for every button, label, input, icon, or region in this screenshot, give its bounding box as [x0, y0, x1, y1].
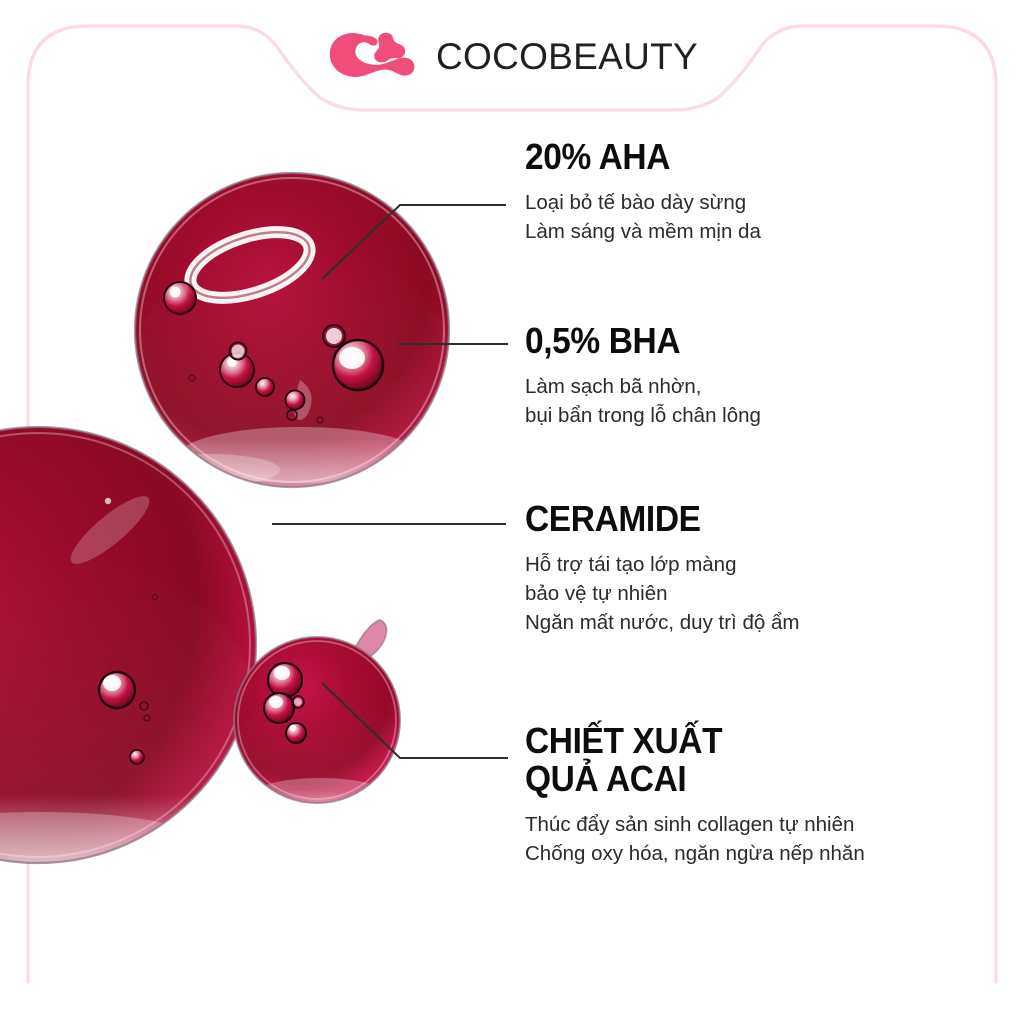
ingredient-desc-aha: Loại bỏ tế bào dày sừng Làm sáng và mềm …	[525, 188, 761, 246]
ingredient-block-aha: 20% AHA Loại bỏ tế bào dày sừng Làm sáng…	[525, 138, 761, 246]
ingredient-title-bha: 0,5% BHA	[525, 322, 744, 360]
ingredient-desc-acai: Thúc đẩy sản sinh collagen tự nhiên Chốn…	[525, 810, 865, 868]
ingredient-title-aha: 20% AHA	[525, 138, 744, 176]
ingredient-block-bha: 0,5% BHA Làm sạch bã nhờn, bụi bẩn trong…	[525, 322, 761, 430]
brand-header: COCOBEAUTY	[0, 22, 1024, 92]
ingredient-block-ceramide: CERAMIDE Hỗ trợ tái tạo lớp màng bảo vệ …	[525, 500, 799, 637]
ingredient-desc-bha: Làm sạch bã nhờn, bụi bẩn trong lỗ chân …	[525, 372, 761, 430]
cocobeauty-logo-icon	[326, 28, 418, 86]
ingredient-desc-ceramide: Hỗ trợ tái tạo lớp màng bảo vệ tự nhiên …	[525, 550, 799, 637]
large-gel-blob-top	[127, 173, 457, 515]
ingredient-title-acai: CHIẾT XUẤT QUẢ ACAI	[525, 722, 841, 798]
ingredient-title-ceramide: CERAMIDE	[525, 500, 780, 538]
gel-artwork	[0, 0, 1024, 1024]
brand-name: COCOBEAUTY	[436, 36, 698, 78]
ingredient-block-acai: CHIẾT XUẤT QUẢ ACAI Thúc đẩy sản sinh co…	[525, 722, 865, 869]
infographic-page: 20% AHA Loại bỏ tế bào dày sừng Làm sáng…	[0, 0, 1024, 1024]
large-gel-blob-left	[0, 427, 260, 890]
